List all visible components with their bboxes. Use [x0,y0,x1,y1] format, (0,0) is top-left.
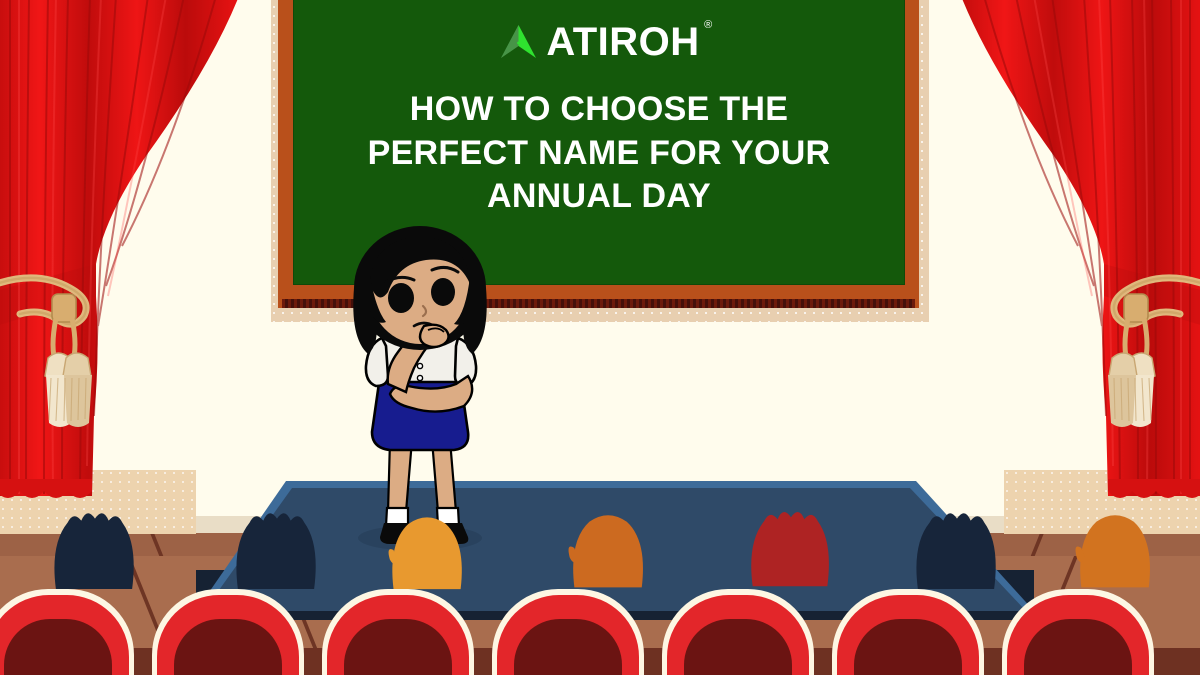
audience-head-1 [48,505,140,591]
title-line-3: ANNUAL DAY [339,175,859,219]
title-line-2: PERFECT NAME FOR YOUR [339,132,859,176]
seat-1[interactable] [0,589,134,675]
title-line-1: HOW TO CHOOSE THE [339,88,859,132]
arrow-mountain-logo-icon [498,25,539,60]
seat-2[interactable] [152,589,304,675]
seat-5[interactable] [662,589,814,675]
seat-7[interactable] [1002,589,1154,675]
stage-curtain-right [954,0,1200,541]
seat-6[interactable] [832,589,984,675]
brand-name-text: ATIROH [546,20,699,64]
registered-mark: ® [704,20,713,31]
brand-wordmark: ATIROH ® [546,22,699,62]
page-title: HOW TO CHOOSE THE PERFECT NAME FOR YOUR … [339,88,859,219]
audience-head-4 [565,505,653,591]
audience-head-3 [383,509,473,591]
seat-3[interactable] [322,589,474,675]
seat-4[interactable] [492,589,644,675]
brand-logo: ATIROH ® [498,22,699,62]
presentation-slide: ATIROH ® HOW TO CHOOSE THE PERFECT NAME … [0,0,1200,675]
thinking-schoolgirl-character [328,226,512,556]
audience-head-5 [745,501,835,591]
audience-head-6 [910,505,1002,591]
stage-curtain-left [0,0,246,541]
audience-head-2 [230,505,322,591]
audience-head-7 [1072,505,1160,591]
